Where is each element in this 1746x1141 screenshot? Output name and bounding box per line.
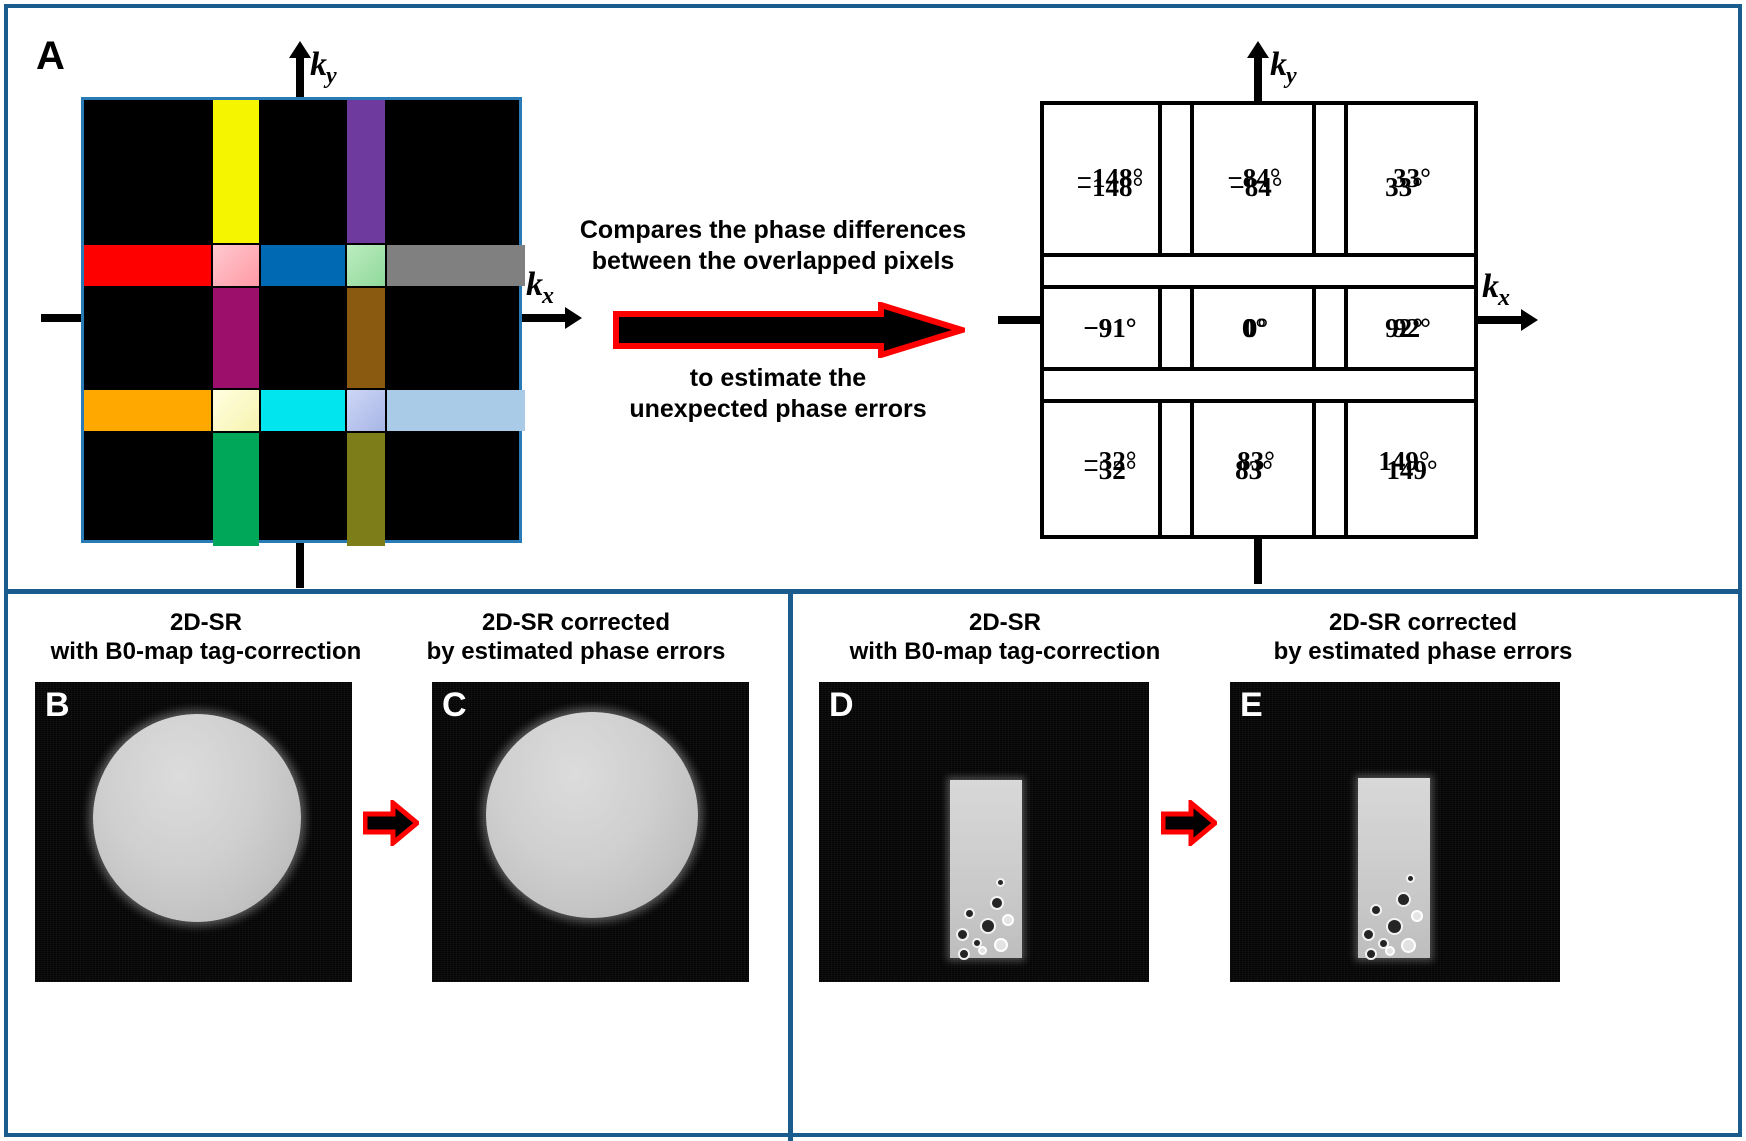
kspace-blue-row (261, 245, 345, 286)
image-letter-b: B (45, 686, 70, 725)
image-letter-d: D (829, 686, 854, 725)
image-letter-c: C (442, 686, 467, 725)
phantom-disk-c (486, 712, 698, 918)
figure-frame: A ky kx (4, 4, 1742, 1137)
phase-label-r2c2: 149° (1350, 405, 1474, 535)
kspace-ky-label: ky (310, 46, 338, 84)
phasegrid-kx-axis-left-tick (998, 316, 1040, 324)
bubble (1002, 914, 1014, 926)
center-text-line-1: Compares the phase differences (553, 215, 993, 246)
phase-strip-horizontal-top (1040, 253, 1478, 289)
mri-image-c: C (432, 682, 749, 982)
caption-b-line2: with B0-map tag-correction (36, 637, 376, 666)
caption-e-line1: 2D-SR corrected (1233, 608, 1613, 637)
bubble (980, 918, 996, 934)
phase-label-r0c2: 33° (1350, 105, 1474, 251)
bubble (996, 878, 1005, 887)
kspace-yellow-column (213, 100, 259, 243)
bubble (964, 908, 975, 919)
phase-strip-vertical-right (1312, 101, 1348, 539)
bubble (1386, 918, 1403, 935)
bubble (1365, 948, 1377, 960)
phantom-disk-b (93, 714, 301, 922)
kspace-cream-overlap (213, 390, 259, 431)
phase-label-r1c2: 92° (1350, 291, 1474, 365)
bubble (1385, 946, 1395, 956)
phase-strip-horizontal-bottom (1040, 367, 1478, 403)
caption-d-line2: with B0-map tag-correction (815, 637, 1195, 666)
kspace-green-column (213, 433, 259, 546)
phase-label-r1c0: −91° (1044, 291, 1176, 365)
center-explanation-bottom: to estimate the unexpected phase errors (593, 363, 963, 426)
kspace-diagram (81, 97, 522, 543)
kspace-pink-overlap (213, 245, 259, 286)
bubble (958, 948, 970, 960)
phasegrid-kx-label: kx (1482, 268, 1511, 306)
phasegrid-ky-axis-line (1254, 56, 1262, 101)
kspace-kx-arrowhead (565, 307, 582, 329)
kspace-olive-column (347, 433, 385, 546)
kspace-lightgreen-overlap (347, 245, 385, 286)
phase-label-r0c0: −148° (1044, 105, 1176, 251)
center-text-line-3: to estimate the (593, 363, 963, 394)
caption-e-line2: by estimated phase errors (1233, 637, 1613, 666)
mri-image-b: B (35, 682, 352, 982)
phase-label-r2c0: −32° (1044, 405, 1176, 535)
arrow-b-to-c (363, 800, 419, 846)
phase-grid: −148° −84° 33° −91° 0° 92° −32° 83° 149°… (1040, 101, 1478, 539)
phase-label-r1c1: 0° (1198, 291, 1310, 365)
kspace-cyan-row (261, 390, 345, 431)
kspace-periwinkle-overlap (347, 390, 385, 431)
phasegrid-ky-axis-bottom-tick (1254, 539, 1262, 584)
phase-label-r2c1: 83° (1198, 405, 1310, 535)
phasegrid-ky-label: ky (1270, 46, 1298, 84)
arrow-d-to-e (1161, 800, 1217, 846)
mri-image-d: D (819, 682, 1149, 982)
bubble (990, 896, 1004, 910)
phantom-rect-e (1358, 778, 1430, 958)
phasegrid-kx-axis-line (1478, 316, 1522, 324)
center-explanation-top: Compares the phase differences between t… (553, 215, 993, 278)
caption-c-line1: 2D-SR corrected (406, 608, 746, 637)
bubble (1362, 928, 1375, 941)
bottom-right-group: 2D-SR with B0-map tag-correction 2D-SR c… (793, 594, 1738, 1141)
kspace-ky-axis-line (296, 56, 304, 101)
bubble (1401, 938, 1416, 953)
kspace-gray-row (387, 245, 525, 286)
caption-c-line2: by estimated phase errors (406, 637, 746, 666)
phantom-rect-d (950, 780, 1022, 958)
caption-b-line1: 2D-SR (36, 608, 376, 637)
panel-a: A ky kx (8, 8, 1738, 589)
bubble (1396, 892, 1411, 907)
image-letter-e: E (1240, 686, 1263, 725)
bubble (956, 928, 969, 941)
bottom-left-group: 2D-SR with B0-map tag-correction 2D-SR c… (8, 594, 788, 1141)
phasegrid-kx-arrowhead (1521, 309, 1538, 331)
kspace-purple-column (347, 100, 385, 243)
center-text-line-2: between the overlapped pixels (553, 246, 993, 277)
phase-label-r0c1: −84° (1198, 105, 1310, 251)
kspace-brown-column (347, 288, 385, 388)
bubble (1406, 874, 1415, 883)
kspace-ky-axis-bottom-tick (296, 543, 304, 588)
caption-e: 2D-SR corrected by estimated phase error… (1233, 608, 1613, 667)
panel-letter-a: A (36, 34, 65, 79)
bubble (978, 946, 987, 955)
caption-d: 2D-SR with B0-map tag-correction (815, 608, 1195, 667)
mri-image-e: E (1230, 682, 1560, 982)
kspace-magenta-column (213, 288, 259, 388)
bubble (1411, 910, 1423, 922)
kspace-ky-arrowhead (289, 41, 311, 58)
kspace-kx-axis-left-tick (41, 314, 83, 322)
kspace-lightblue-row (387, 390, 525, 431)
caption-d-line1: 2D-SR (815, 608, 1195, 637)
caption-c: 2D-SR corrected by estimated phase error… (406, 608, 746, 667)
kspace-red-row (84, 245, 211, 286)
phasegrid-ky-arrowhead (1247, 41, 1269, 58)
kspace-kx-label: kx (526, 266, 555, 304)
kspace-kx-axis-line (522, 314, 566, 322)
kspace-orange-row (84, 390, 211, 431)
caption-b: 2D-SR with B0-map tag-correction (36, 608, 376, 667)
center-text-line-4: unexpected phase errors (593, 394, 963, 425)
process-arrow (613, 302, 965, 358)
bubble (994, 938, 1008, 952)
bubble (1370, 904, 1382, 916)
